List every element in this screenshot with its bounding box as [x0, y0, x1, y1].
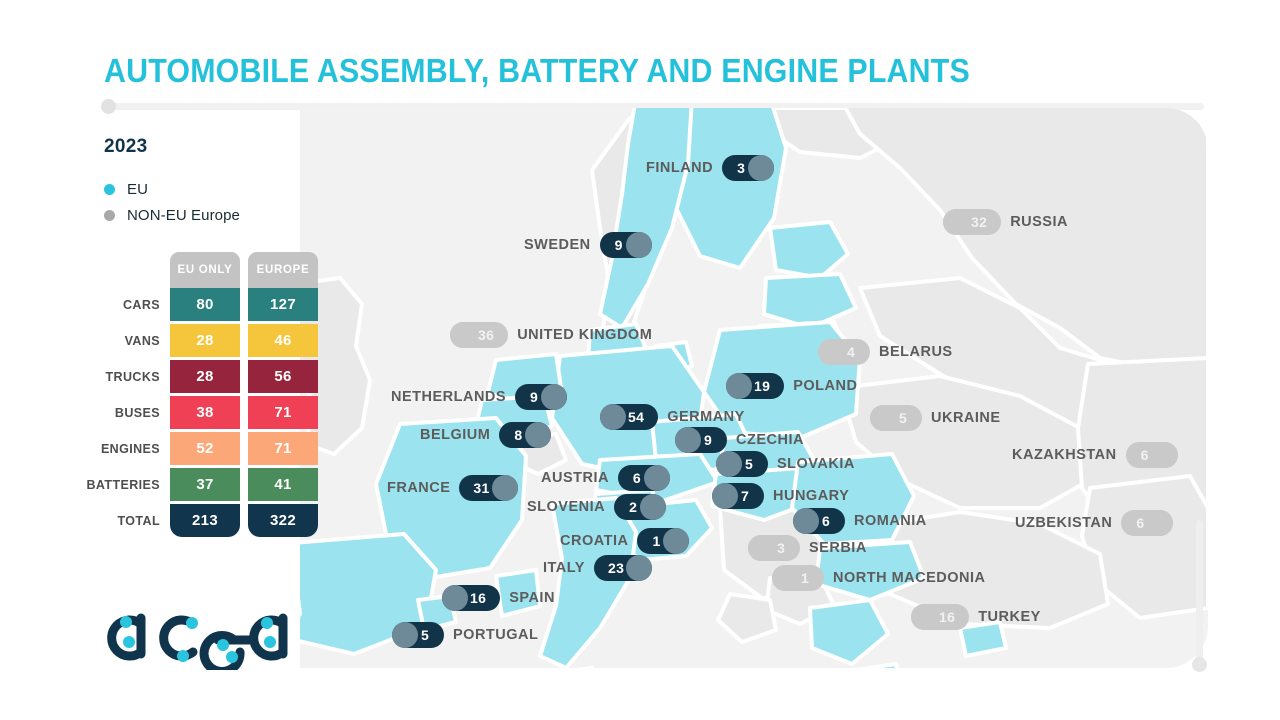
cell-eu-only: 28 — [170, 324, 240, 357]
table-corner-cell — [104, 252, 170, 288]
marker-value: 6 — [633, 470, 641, 486]
marker-country-label: SERBIA — [809, 535, 867, 561]
row-label: BUSES — [104, 396, 170, 429]
panel-scroll-knob[interactable] — [1192, 657, 1207, 672]
marker-location-dot-icon — [943, 209, 969, 235]
marker-country-label: KAZAKHSTAN — [1012, 442, 1117, 468]
marker-pill[interactable]: 36 — [450, 322, 508, 348]
marker-location-dot-icon — [748, 155, 774, 181]
legend-label-eu: EU — [127, 181, 148, 198]
title-divider-knob — [101, 99, 116, 114]
marker-location-dot-icon — [726, 373, 752, 399]
marker-value: 6 — [822, 513, 830, 529]
marker-location-dot-icon — [675, 427, 701, 453]
map-marker-netherlands[interactable]: NETHERLANDS9 — [391, 384, 567, 410]
table-row: BATTERIES3741 — [104, 468, 318, 501]
map-marker-belgium[interactable]: BELGIUM8 — [420, 422, 551, 448]
marker-location-dot-icon — [772, 565, 798, 591]
marker-location-dot-icon — [712, 483, 738, 509]
marker-value: 3 — [737, 160, 745, 176]
marker-value: 5 — [745, 456, 753, 472]
map-marker-slovenia[interactable]: SLOVENIA2 — [527, 494, 666, 520]
marker-value: 2 — [629, 499, 637, 515]
cell-eu-only: 28 — [170, 360, 240, 393]
marker-pill[interactable]: 16 — [911, 604, 969, 630]
map-marker-uzbekistan[interactable]: UZBEKISTAN6 — [1015, 510, 1173, 536]
marker-country-label: ROMANIA — [854, 508, 927, 534]
marker-value: 7 — [741, 488, 749, 504]
marker-country-label: ITALY — [543, 555, 585, 581]
marker-country-label: POLAND — [793, 373, 857, 399]
marker-country-label: FINLAND — [646, 155, 713, 181]
stats-table: EU ONLY EUROPE CARS80127VANS2846TRUCKS28… — [104, 252, 318, 537]
marker-country-label: RUSSIA — [1010, 209, 1068, 235]
marker-country-label: UNITED KINGDOM — [517, 322, 652, 348]
marker-country-label: SLOVAKIA — [777, 451, 855, 477]
map-marker-italy[interactable]: ITALY23 — [543, 555, 652, 581]
infographic-root: AUTOMOBILE ASSEMBLY, BATTERY AND ENGINE … — [0, 0, 1280, 720]
marker-value: 9 — [615, 237, 623, 253]
marker-country-label: UKRAINE — [931, 405, 1001, 431]
marker-value: 31 — [473, 480, 489, 496]
cell-europe: 41 — [248, 468, 318, 501]
marker-location-dot-icon — [818, 339, 844, 365]
table-row: TRUCKS2856 — [104, 360, 318, 393]
marker-location-dot-icon — [392, 622, 418, 648]
marker-location-dot-icon — [541, 384, 567, 410]
legend-dot-eu-icon — [104, 184, 115, 195]
marker-value: 6 — [1136, 515, 1144, 531]
marker-pill[interactable]: 4 — [818, 339, 870, 365]
table-row: BUSES3871 — [104, 396, 318, 429]
cell-eu-only: 37 — [170, 468, 240, 501]
country-estonia — [770, 222, 848, 278]
marker-location-dot-icon — [450, 322, 476, 348]
row-label: VANS — [104, 324, 170, 357]
marker-pill[interactable]: 32 — [943, 209, 1001, 235]
marker-pill[interactable]: 1 — [637, 528, 689, 554]
cell-eu-only: 38 — [170, 396, 240, 429]
marker-country-label: FRANCE — [387, 475, 450, 501]
table-row: ENGINES5271 — [104, 432, 318, 465]
marker-value: 6 — [1141, 447, 1149, 463]
row-label: CARS — [104, 288, 170, 321]
marker-value: 5 — [899, 410, 907, 426]
row-label: TRUCKS — [104, 360, 170, 393]
marker-country-label: SPAIN — [509, 585, 555, 611]
map-marker-turkey[interactable]: 16TURKEY — [911, 604, 1041, 630]
map-marker-hungary[interactable]: 7HUNGARY — [712, 483, 849, 509]
marker-location-dot-icon — [1147, 510, 1173, 536]
marker-value: 36 — [478, 327, 494, 343]
map-marker-kazakhstan[interactable]: KAZAKHSTAN6 — [1012, 442, 1178, 468]
marker-value: 16 — [470, 590, 486, 606]
cell-europe: 322 — [248, 504, 318, 537]
map-marker-portugal[interactable]: 5PORTUGAL — [392, 622, 538, 648]
marker-location-dot-icon — [716, 451, 742, 477]
marker-value: 3 — [777, 540, 785, 556]
cell-europe: 127 — [248, 288, 318, 321]
map-marker-belarus[interactable]: 4BELARUS — [818, 339, 953, 365]
map-marker-poland[interactable]: 19POLAND — [726, 373, 857, 399]
marker-pill[interactable]: 6 — [793, 508, 845, 534]
legend: EU NON-EU Europe — [104, 176, 240, 228]
cell-eu-only: 80 — [170, 288, 240, 321]
map-marker-sweden[interactable]: SWEDEN9 — [524, 232, 652, 258]
table-body: CARS80127VANS2846TRUCKS2856BUSES3871ENGI… — [104, 288, 318, 537]
marker-pill[interactable]: 2 — [614, 494, 666, 520]
marker-country-label: NORTH MACEDONIA — [833, 565, 986, 591]
marker-pill[interactable]: 9 — [600, 232, 652, 258]
map-marker-ukraine[interactable]: 5UKRAINE — [870, 405, 1001, 431]
row-label: BATTERIES — [104, 468, 170, 501]
table-row: TOTAL213322 — [104, 504, 318, 537]
marker-location-dot-icon — [640, 494, 666, 520]
marker-location-dot-icon — [748, 535, 774, 561]
marker-location-dot-icon — [626, 232, 652, 258]
marker-country-label: HUNGARY — [773, 483, 849, 509]
legend-label-noneu: NON-EU Europe — [127, 207, 240, 224]
column-header-europe: EUROPE — [248, 252, 318, 288]
marker-value: 16 — [939, 609, 955, 625]
legend-dot-noneu-icon — [104, 210, 115, 221]
map-marker-czechia[interactable]: 9CZECHIA — [675, 427, 804, 453]
marker-pill[interactable]: 16 — [442, 585, 500, 611]
marker-country-label: SWEDEN — [524, 232, 591, 258]
row-label: ENGINES — [104, 432, 170, 465]
map-marker-serbia[interactable]: 3SERBIA — [748, 535, 867, 561]
marker-value: 1 — [801, 570, 809, 586]
marker-value: 8 — [514, 427, 522, 443]
marker-country-label: UZBEKISTAN — [1015, 510, 1112, 536]
marker-pill[interactable]: 5 — [392, 622, 444, 648]
marker-country-label: TURKEY — [978, 604, 1041, 630]
marker-value: 19 — [754, 378, 770, 394]
map-marker-russia[interactable]: 32RUSSIA — [943, 209, 1068, 235]
marker-location-dot-icon — [793, 508, 819, 534]
map-marker-austria[interactable]: AUSTRIA6 — [541, 465, 670, 491]
country-greece-islands — [856, 664, 902, 668]
marker-country-label: BELARUS — [879, 339, 953, 365]
marker-value: 9 — [704, 432, 712, 448]
map-marker-spain[interactable]: 16SPAIN — [442, 585, 555, 611]
marker-value: 54 — [628, 409, 644, 425]
page-title: AUTOMOBILE ASSEMBLY, BATTERY AND ENGINE … — [104, 52, 970, 90]
marker-value: 1 — [652, 533, 660, 549]
marker-country-label: SLOVENIA — [527, 494, 605, 520]
marker-pill[interactable]: 8 — [499, 422, 551, 448]
marker-country-label: AUSTRIA — [541, 465, 609, 491]
marker-pill[interactable]: 6 — [1126, 442, 1178, 468]
marker-pill[interactable]: 23 — [594, 555, 652, 581]
marker-location-dot-icon — [442, 585, 468, 611]
map-marker-croatia[interactable]: CROATIA1 — [560, 528, 689, 554]
map-marker-finland[interactable]: FINLAND3 — [646, 155, 774, 181]
marker-location-dot-icon — [626, 555, 652, 581]
map-marker-france[interactable]: FRANCE31 — [387, 475, 518, 501]
table-header-row: EU ONLY EUROPE — [104, 252, 318, 288]
marker-country-label: NETHERLANDS — [391, 384, 506, 410]
marker-value: 32 — [971, 214, 987, 230]
cell-europe: 71 — [248, 396, 318, 429]
marker-pill[interactable]: 54 — [600, 404, 658, 430]
marker-location-dot-icon — [492, 475, 518, 501]
marker-location-dot-icon — [911, 604, 937, 630]
country-italy — [540, 498, 636, 668]
cell-europe: 56 — [248, 360, 318, 393]
marker-pill[interactable]: 7 — [712, 483, 764, 509]
marker-pill[interactable]: 1 — [772, 565, 824, 591]
marker-pill[interactable]: 31 — [459, 475, 517, 501]
row-label: TOTAL — [104, 504, 170, 537]
cell-europe: 46 — [248, 324, 318, 357]
marker-location-dot-icon — [1152, 442, 1178, 468]
marker-pill[interactable]: 3 — [748, 535, 800, 561]
marker-country-label: BELGIUM — [420, 422, 490, 448]
marker-location-dot-icon — [644, 465, 670, 491]
marker-pill[interactable]: 6 — [1121, 510, 1173, 536]
marker-value: 5 — [421, 627, 429, 643]
table-row: CARS80127 — [104, 288, 318, 321]
marker-pill[interactable]: 6 — [618, 465, 670, 491]
marker-pill[interactable]: 3 — [722, 155, 774, 181]
legend-item-noneu: NON-EU Europe — [104, 202, 240, 228]
marker-pill[interactable]: 5 — [870, 405, 922, 431]
marker-pill[interactable]: 5 — [716, 451, 768, 477]
panel-scroll-track[interactable] — [1196, 520, 1203, 665]
marker-location-dot-icon — [525, 422, 551, 448]
marker-location-dot-icon — [663, 528, 689, 554]
table-row: VANS2846 — [104, 324, 318, 357]
country-latvia — [764, 274, 856, 328]
country-albania — [718, 594, 776, 642]
year-label: 2023 — [104, 136, 147, 158]
cell-eu-only: 213 — [170, 504, 240, 537]
marker-location-dot-icon — [870, 405, 896, 431]
marker-pill[interactable]: 19 — [726, 373, 784, 399]
marker-pill[interactable]: 9 — [675, 427, 727, 453]
map-marker-slovakia[interactable]: 5SLOVAKIA — [716, 451, 855, 477]
acea-logo — [100, 590, 300, 670]
country-greece — [810, 600, 888, 664]
map-marker-north-macedonia[interactable]: 1NORTH MACEDONIA — [772, 565, 986, 591]
marker-pill[interactable]: 9 — [515, 384, 567, 410]
map-marker-romania[interactable]: 6ROMANIA — [793, 508, 927, 534]
marker-value: 9 — [530, 389, 538, 405]
marker-country-label: CZECHIA — [736, 427, 804, 453]
cell-eu-only: 52 — [170, 432, 240, 465]
legend-item-eu: EU — [104, 176, 240, 202]
map-marker-united-kingdom[interactable]: 36UNITED KINGDOM — [450, 322, 652, 348]
marker-country-label: PORTUGAL — [453, 622, 538, 648]
cell-europe: 71 — [248, 432, 318, 465]
column-header-eu-only: EU ONLY — [170, 252, 240, 288]
acea-logo-svg — [100, 590, 300, 670]
marker-country-label: CROATIA — [560, 528, 628, 554]
marker-location-dot-icon — [600, 404, 626, 430]
marker-value: 23 — [608, 560, 624, 576]
marker-value: 4 — [847, 344, 855, 360]
